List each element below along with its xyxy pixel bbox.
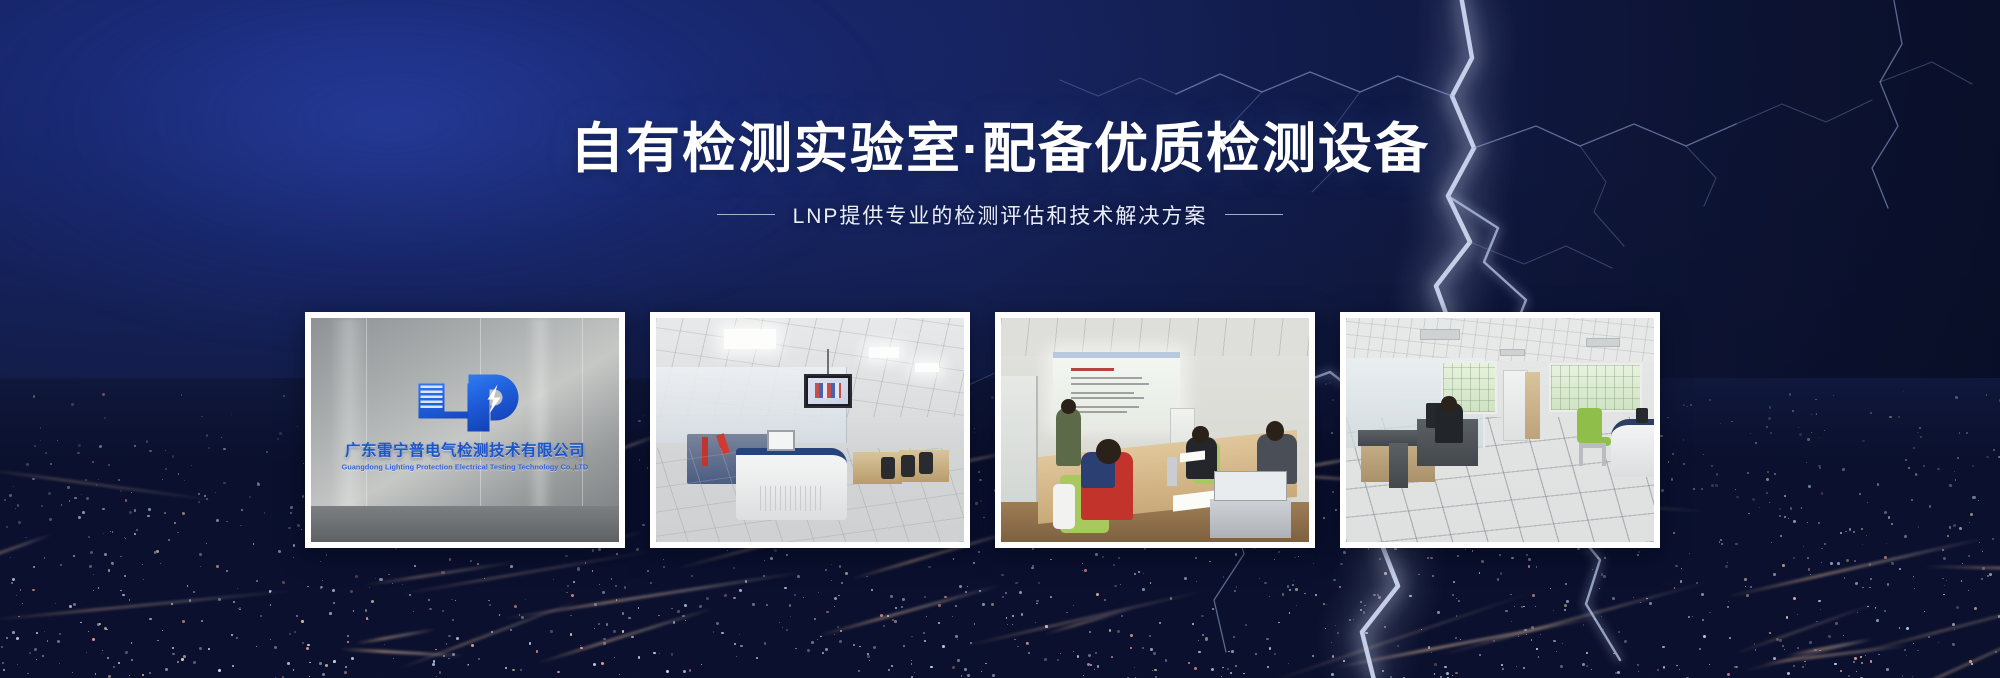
laptop — [1210, 499, 1290, 537]
photo-testing-laboratory — [656, 318, 964, 542]
company-logo-block: 广东雷宁普电气检测技术有限公司 Guangdong Lighting Prote… — [329, 371, 600, 472]
gallery-item-meeting-room[interactable] — [995, 312, 1315, 548]
lnp-logo-icon — [409, 371, 521, 433]
gallery-item-office[interactable] — [1340, 312, 1660, 548]
company-name-cn: 广东雷宁普电气检测技术有限公司 — [329, 439, 600, 461]
photo-gallery: 广东雷宁普电气检测技术有限公司 Guangdong Lighting Prote… — [305, 312, 1660, 548]
subtitle-row: LNP提供专业的检测评估和技术解决方案 — [0, 200, 2000, 230]
rule-right-icon — [1225, 214, 1283, 215]
gallery-item-laboratory[interactable] — [650, 312, 970, 548]
page-title: 自有检测实验室·配备优质检测设备 — [0, 118, 2000, 182]
rule-left-icon — [717, 214, 775, 215]
photo-training-meeting — [1001, 318, 1309, 542]
hero-text-block: 自有检测实验室·配备优质检测设备 LNP提供专业的检测评估和技术解决方案 — [0, 118, 2000, 230]
company-name-en: Guangdong Lighting Protection Electrical… — [329, 463, 600, 472]
gallery-item-logo-wall[interactable]: 广东雷宁普电气检测技术有限公司 Guangdong Lighting Prote… — [305, 312, 625, 548]
photo-company-logo-wall: 广东雷宁普电气检测技术有限公司 Guangdong Lighting Prote… — [311, 318, 619, 542]
photo-office-area — [1346, 318, 1654, 542]
hero-banner: 自有检测实验室·配备优质检测设备 LNP提供专业的检测评估和技术解决方案 — [0, 0, 2000, 678]
page-subtitle: LNP提供专业的检测评估和技术解决方案 — [793, 200, 1208, 230]
